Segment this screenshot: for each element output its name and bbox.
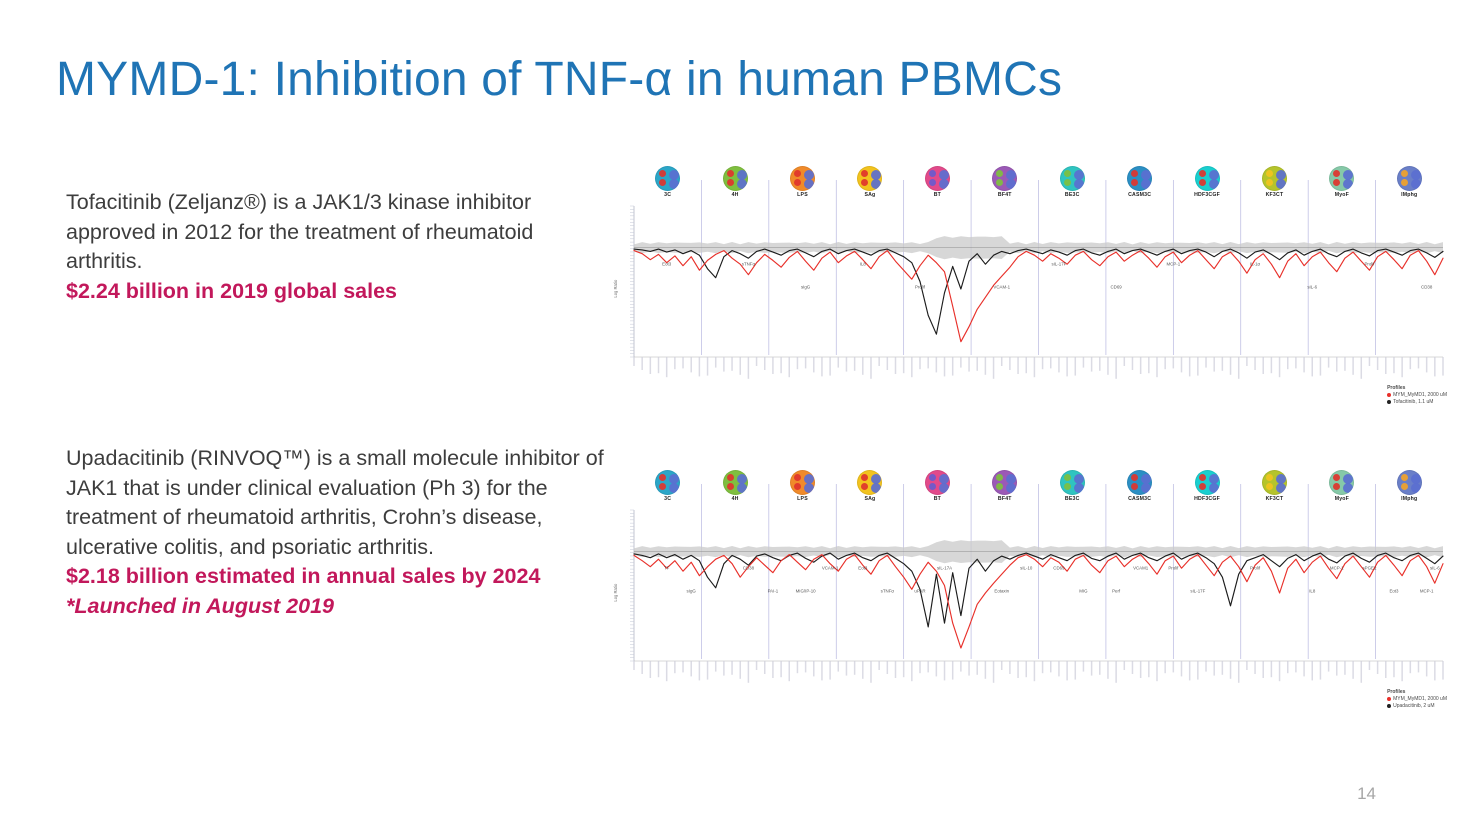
cell-system-icon bbox=[925, 166, 950, 191]
svg-text:CD38: CD38 bbox=[1421, 285, 1433, 290]
cell-system-icon bbox=[992, 166, 1017, 191]
svg-text:Prolif: Prolif bbox=[1364, 262, 1375, 267]
cell-system-icon bbox=[1127, 166, 1152, 191]
svg-text:Eot3: Eot3 bbox=[858, 566, 868, 571]
svg-text:CD69: CD69 bbox=[1111, 285, 1123, 290]
cell-system-icon bbox=[655, 470, 680, 495]
svg-text:sIL-6: sIL-6 bbox=[1430, 566, 1440, 571]
system-header-hdf3cgf: HDF3CGF bbox=[1187, 470, 1227, 502]
svg-text:sIgG: sIgG bbox=[801, 285, 811, 290]
legend-label: Tofacitinib, 1.1 uM bbox=[1393, 399, 1433, 406]
system-label: LPS bbox=[783, 496, 823, 502]
system-label: LPS bbox=[783, 192, 823, 198]
svg-text:IL8: IL8 bbox=[1309, 589, 1316, 594]
svg-text:MIG/IP-10: MIG/IP-10 bbox=[796, 589, 817, 594]
text-body: Upadacitinib (RINVOQ™) is a small molecu… bbox=[66, 444, 611, 562]
cell-system-icon bbox=[1127, 470, 1152, 495]
system-label: SAg bbox=[850, 496, 890, 502]
cell-system-icon bbox=[1329, 470, 1354, 495]
legend-label: Upadacitinib, 2 uM bbox=[1393, 703, 1434, 710]
svg-text:IL8: IL8 bbox=[860, 262, 867, 267]
cell-system-icon bbox=[1262, 470, 1287, 495]
system-header-bt: BT bbox=[917, 166, 957, 198]
system-header-kf3ct: KF3CT bbox=[1254, 470, 1294, 502]
cell-system-icon bbox=[1195, 166, 1220, 191]
system-label: SAg bbox=[850, 192, 890, 198]
system-header-myof: MyoF bbox=[1322, 470, 1362, 502]
svg-text:MIG: MIG bbox=[1079, 589, 1088, 594]
cell-system-icon bbox=[1329, 166, 1354, 191]
legend-title: Profiles bbox=[1387, 689, 1447, 696]
svg-text:Prolif: Prolif bbox=[915, 285, 926, 290]
system-header-be3c: BE3C bbox=[1052, 166, 1092, 198]
svg-text:Prolif: Prolif bbox=[1250, 566, 1261, 571]
system-label: BT bbox=[917, 496, 957, 502]
text-block-tofacitinib: Tofacitinib (Zeljanz®) is a JAK1/3 kinas… bbox=[66, 188, 611, 306]
legend-title: Profiles bbox=[1387, 385, 1447, 392]
cell-system-icon bbox=[1397, 470, 1422, 495]
svg-text:Perf: Perf bbox=[1112, 589, 1121, 594]
system-header-casm3c: CASM3C bbox=[1120, 166, 1160, 198]
text-block-upadacitinib: Upadacitinib (RINVOQ™) is a small molecu… bbox=[66, 444, 611, 621]
cell-system-icon bbox=[857, 470, 882, 495]
svg-text:IL-1α: IL-1α bbox=[1250, 262, 1261, 267]
system-label: 3C bbox=[648, 192, 688, 198]
system-label: 4H bbox=[715, 192, 755, 198]
system-header-sag: SAg bbox=[850, 470, 890, 502]
legend-entry: Tofacitinib, 1.1 uM bbox=[1387, 399, 1447, 406]
system-label: CASM3C bbox=[1120, 192, 1160, 198]
system-label: IMphg bbox=[1389, 496, 1429, 502]
system-header-4h: 4H bbox=[715, 470, 755, 502]
biomap-chart-tofacitinib: 3C4HLPSSAgBTBF4TBE3CCASM3CHDF3CGFKF3CTMy… bbox=[608, 166, 1453, 411]
svg-text:Eot3: Eot3 bbox=[1389, 589, 1399, 594]
cell-system-icon bbox=[1262, 166, 1287, 191]
system-label: KF3CT bbox=[1254, 496, 1294, 502]
system-label: MyoF bbox=[1322, 192, 1362, 198]
cell-system-icon bbox=[1060, 166, 1085, 191]
svg-text:Log Ratio: Log Ratio bbox=[613, 583, 618, 602]
cell-system-icon bbox=[857, 166, 882, 191]
legend-entry: Upadacitinib, 2 uM bbox=[1387, 703, 1447, 710]
chart-legend-1: Profiles MYM_MyMD1, 2000 uM Tofacitinib,… bbox=[1387, 385, 1447, 406]
cell-system-icon bbox=[790, 166, 815, 191]
svg-text:sIL-6: sIL-6 bbox=[1307, 285, 1317, 290]
system-header-strip-1: 3C4HLPSSAgBTBF4TBE3CCASM3CHDF3CGFKF3CTMy… bbox=[608, 166, 1453, 208]
system-label: 4H bbox=[715, 496, 755, 502]
svg-text:uPAR: uPAR bbox=[914, 589, 925, 594]
cell-system-icon bbox=[1195, 470, 1220, 495]
text-highlight: $2.24 billion in 2019 global sales bbox=[66, 277, 611, 307]
system-label: HDF3CGF bbox=[1187, 496, 1227, 502]
biomap-chart-upadacitinib: 3C4HLPSSAgBTBF4TBE3CCASM3CHDF3CGFKF3CTMy… bbox=[608, 470, 1453, 715]
page-number: 14 bbox=[1357, 784, 1376, 804]
text-body: Tofacitinib (Zeljanz®) is a JAK1/3 kinas… bbox=[66, 188, 611, 277]
legend-swatch-black bbox=[1387, 400, 1391, 404]
system-header-bf4t: BF4T bbox=[985, 470, 1025, 502]
system-label: IMphg bbox=[1389, 192, 1429, 198]
svg-text:Prolif: Prolif bbox=[1168, 566, 1179, 571]
system-header-kf3ct: KF3CT bbox=[1254, 166, 1294, 198]
svg-text:Eotaxin: Eotaxin bbox=[994, 589, 1009, 594]
cell-system-icon bbox=[1060, 470, 1085, 495]
system-header-be3c: BE3C bbox=[1052, 470, 1092, 502]
svg-text:Log Ratio: Log Ratio bbox=[613, 279, 618, 298]
system-header-3c: 3C bbox=[648, 166, 688, 198]
system-header-myof: MyoF bbox=[1322, 166, 1362, 198]
cell-system-icon bbox=[925, 470, 950, 495]
svg-text:PAI-1: PAI-1 bbox=[768, 589, 779, 594]
legend-swatch-red bbox=[1387, 393, 1391, 397]
system-header-4h: 4H bbox=[715, 166, 755, 198]
system-header-lps: LPS bbox=[783, 470, 823, 502]
text-footnote: *Launched in August 2019 bbox=[66, 592, 611, 622]
system-header-imphg: IMphg bbox=[1389, 470, 1429, 502]
system-header-sag: SAg bbox=[850, 166, 890, 198]
system-header-bt: BT bbox=[917, 470, 957, 502]
svg-text:sIL-17A: sIL-17A bbox=[937, 566, 952, 571]
svg-text:Eot3: Eot3 bbox=[662, 262, 672, 267]
svg-text:sIgG: sIgG bbox=[687, 589, 697, 594]
svg-text:sTNFα: sTNFα bbox=[881, 589, 895, 594]
cell-system-icon bbox=[1397, 166, 1422, 191]
system-label: HDF3CGF bbox=[1187, 192, 1227, 198]
svg-text:sTNFα: sTNFα bbox=[742, 262, 756, 267]
svg-text:CD69: CD69 bbox=[1053, 566, 1065, 571]
legend-swatch-black bbox=[1387, 704, 1391, 708]
cell-system-icon bbox=[723, 166, 748, 191]
svg-text:sIL-10: sIL-10 bbox=[1020, 566, 1033, 571]
svg-text:VCAM-1: VCAM-1 bbox=[993, 285, 1010, 290]
cell-system-icon bbox=[723, 470, 748, 495]
system-header-3c: 3C bbox=[648, 470, 688, 502]
system-label: BF4T bbox=[985, 192, 1025, 198]
system-label: BE3C bbox=[1052, 192, 1092, 198]
system-label: 3C bbox=[648, 496, 688, 502]
system-header-casm3c: CASM3C bbox=[1120, 470, 1160, 502]
cell-system-icon bbox=[790, 470, 815, 495]
system-label: CASM3C bbox=[1120, 496, 1160, 502]
text-highlight: $2.18 billion estimated in annual sales … bbox=[66, 562, 611, 592]
system-header-bf4t: BF4T bbox=[985, 166, 1025, 198]
slide: MYMD-1: Inhibition of TNF-α in human PBM… bbox=[0, 0, 1464, 822]
svg-text:MCP-1: MCP-1 bbox=[1166, 262, 1180, 267]
system-header-lps: LPS bbox=[783, 166, 823, 198]
svg-text:sIL-17F: sIL-17F bbox=[1190, 589, 1205, 594]
system-header-hdf3cgf: HDF3CGF bbox=[1187, 166, 1227, 198]
svg-text:MCP-1: MCP-1 bbox=[1420, 589, 1434, 594]
cell-system-icon bbox=[655, 166, 680, 191]
svg-text:sPGE2: sPGE2 bbox=[1362, 566, 1376, 571]
chart-legend-2: Profiles MYM_MyMD1, 2000 uM Upadacitinib… bbox=[1387, 689, 1447, 710]
system-label: KF3CT bbox=[1254, 192, 1294, 198]
svg-text:VCAM-1: VCAM-1 bbox=[822, 566, 839, 571]
system-header-strip-2: 3C4HLPSSAgBTBF4TBE3CCASM3CHDF3CGFKF3CTMy… bbox=[608, 470, 1453, 512]
svg-text:CD38: CD38 bbox=[743, 566, 755, 571]
cell-system-icon bbox=[992, 470, 1017, 495]
system-label: BF4T bbox=[985, 496, 1025, 502]
svg-text:VCAM1: VCAM1 bbox=[1133, 566, 1149, 571]
svg-text:sIL-17F: sIL-17F bbox=[1051, 262, 1066, 267]
system-label: BE3C bbox=[1052, 496, 1092, 502]
system-label: BT bbox=[917, 192, 957, 198]
svg-text:MCP-1: MCP-1 bbox=[1330, 566, 1344, 571]
svg-text:TF: TF bbox=[664, 566, 670, 571]
system-header-imphg: IMphg bbox=[1389, 166, 1429, 198]
legend-swatch-red bbox=[1387, 697, 1391, 701]
system-label: MyoF bbox=[1322, 496, 1362, 502]
page-title: MYMD-1: Inhibition of TNF-α in human PBM… bbox=[56, 52, 1062, 107]
